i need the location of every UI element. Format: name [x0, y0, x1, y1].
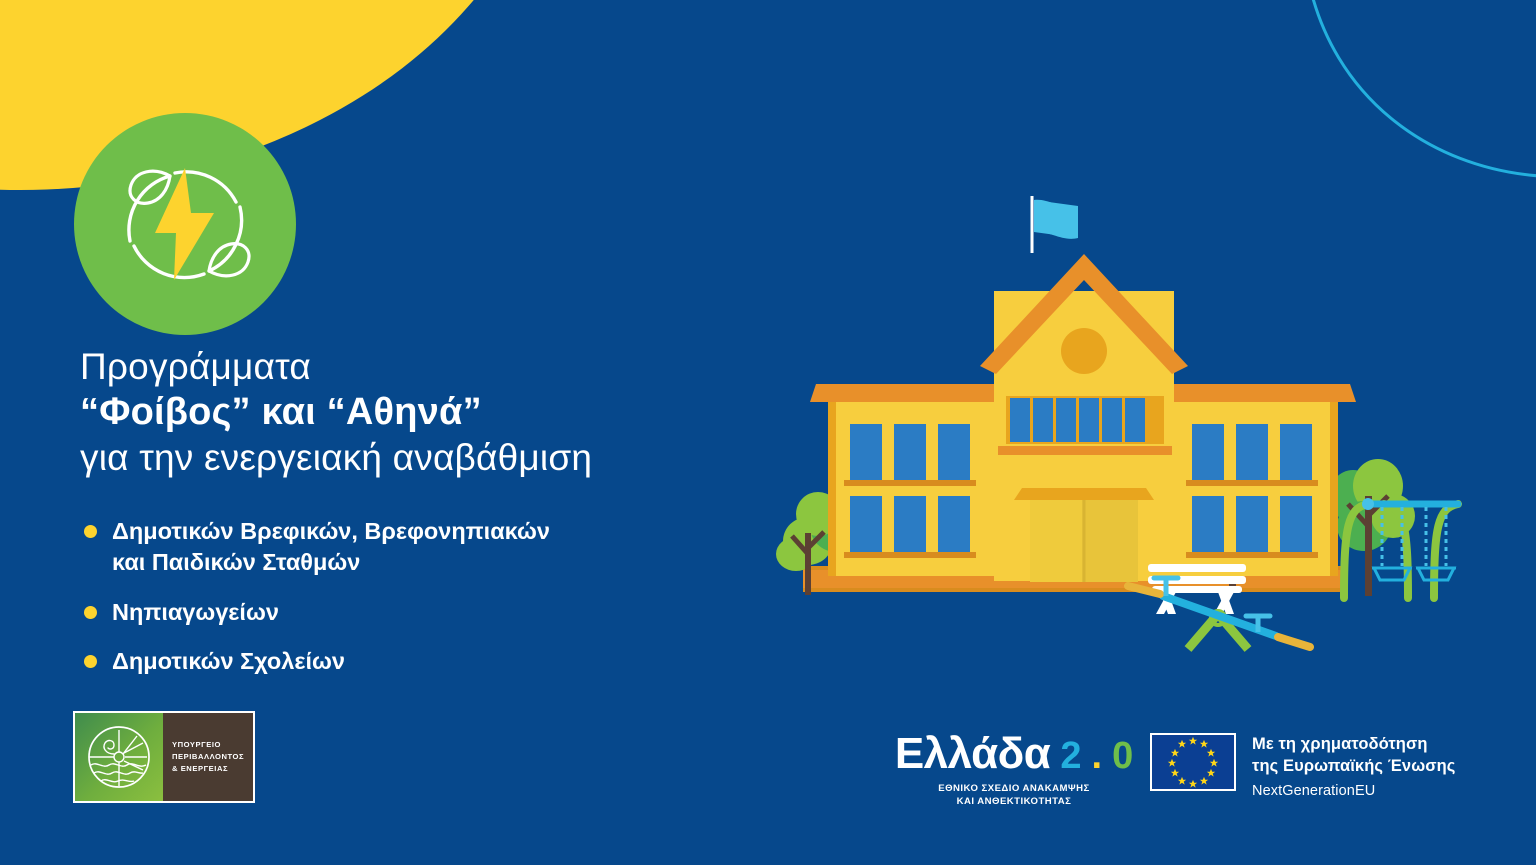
greece-logo-dot: .	[1092, 735, 1103, 778]
greece-logo-zero: 0	[1112, 735, 1133, 778]
bullet-dot-icon	[84, 606, 97, 619]
energy-upgrade-badge	[74, 113, 296, 335]
list-item-line-1: Νηπιαγωγείων	[112, 599, 279, 625]
sun-wind-water-emblem	[86, 724, 152, 790]
ministry-logo: ΥΠΟΥΡΓΕΙΟ ΠΕΡΙΒΑΛΛΟΝΤΟΣ & ΕΝΕΡΓΕΙΑΣ	[73, 711, 255, 803]
ministry-name: ΥΠΟΥΡΓΕΙΟ ΠΕΡΙΒΑΛΛΟΝΤΟΣ & ΕΝΕΡΓΕΙΑΣ	[163, 713, 253, 801]
greece-logo-two: 2	[1060, 735, 1081, 778]
list-item: Νηπιαγωγείων	[80, 597, 720, 628]
ministry-line-1: ΥΠΟΥΡΓΕΙΟ	[172, 739, 253, 751]
list-item-line-1: Δημοτικών Βρεφικών, Βρεφονηπιακών	[112, 518, 550, 544]
list-item-line-1: Δημοτικών Σχολείων	[112, 648, 345, 674]
headline-line-1: Προγράμματα	[80, 344, 780, 389]
list-item-line-2: και Παιδικών Σταθμών	[112, 549, 360, 575]
bullet-dot-icon	[84, 525, 97, 538]
eu-funding-logo: Με τη χρηματοδότηση της Ευρωπαϊκής Ένωση…	[1150, 733, 1455, 799]
greece-2-0-logo: Ελλάδα 2 . 0 ΕΘΝΙΚΟ ΣΧΕΔΙΟ ΑΝΑΚΑΜΨΗΣ ΚΑΙ…	[896, 729, 1132, 809]
cyan-arc-decoration	[1136, 0, 1536, 210]
eu-funding-text: Με τη χρηματοδότηση της Ευρωπαϊκής Ένωση…	[1252, 733, 1455, 799]
headline-line-3: για την ενεργειακή αναβάθμιση	[80, 435, 780, 480]
greece-subtitle-line-2: ΚΑΙ ΑΝΘΕΚΤΙΚΟΤΗΤΑΣ	[896, 795, 1132, 808]
ministry-line-3: & ΕΝΕΡΓΕΙΑΣ	[172, 763, 253, 775]
european-union-flag	[1150, 733, 1236, 791]
target-buildings-list: Δημοτικών Βρεφικών, Βρεφονηπιακών και Πα…	[80, 516, 720, 677]
list-item: Δημοτικών Σχολείων	[80, 646, 720, 677]
page-title: Προγράμματα “Φοίβος” και “Αθηνά” για την…	[80, 344, 780, 481]
school-building-with-playground	[748, 196, 1468, 666]
bullet-dot-icon	[84, 655, 97, 668]
greece-logo-wordmark: Ελλάδα 2 . 0	[896, 729, 1132, 779]
eu-text-line-1: Με τη χρηματοδότηση	[1252, 734, 1455, 756]
headline-line-2: “Φοίβος” και “Αθηνά”	[80, 389, 780, 435]
greece-logo-name: Ελλάδα	[895, 729, 1051, 779]
renewable-energy-bolt-icon	[74, 113, 296, 335]
poster-canvas: Προγράμματα “Φοίβος” και “Αθηνά” για την…	[0, 0, 1536, 865]
ministry-emblem	[75, 713, 163, 801]
ministry-line-2: ΠΕΡΙΒΑΛΛΟΝΤΟΣ	[172, 751, 253, 763]
eu-text-line-2: της Ευρωπαϊκής Ένωσης	[1252, 756, 1455, 778]
list-item: Δημοτικών Βρεφικών, Βρεφονηπιακών και Πα…	[80, 516, 720, 579]
greece-subtitle-line-1: ΕΘΝΙΚΟ ΣΧΕΔΙΟ ΑΝΑΚΑΜΨΗΣ	[896, 782, 1132, 795]
greece-logo-subtitle: ΕΘΝΙΚΟ ΣΧΕΔΙΟ ΑΝΑΚΑΜΨΗΣ ΚΑΙ ΑΝΘΕΚΤΙΚΟΤΗΤ…	[896, 782, 1132, 809]
eu-text-line-3: NextGenerationEU	[1252, 783, 1455, 799]
